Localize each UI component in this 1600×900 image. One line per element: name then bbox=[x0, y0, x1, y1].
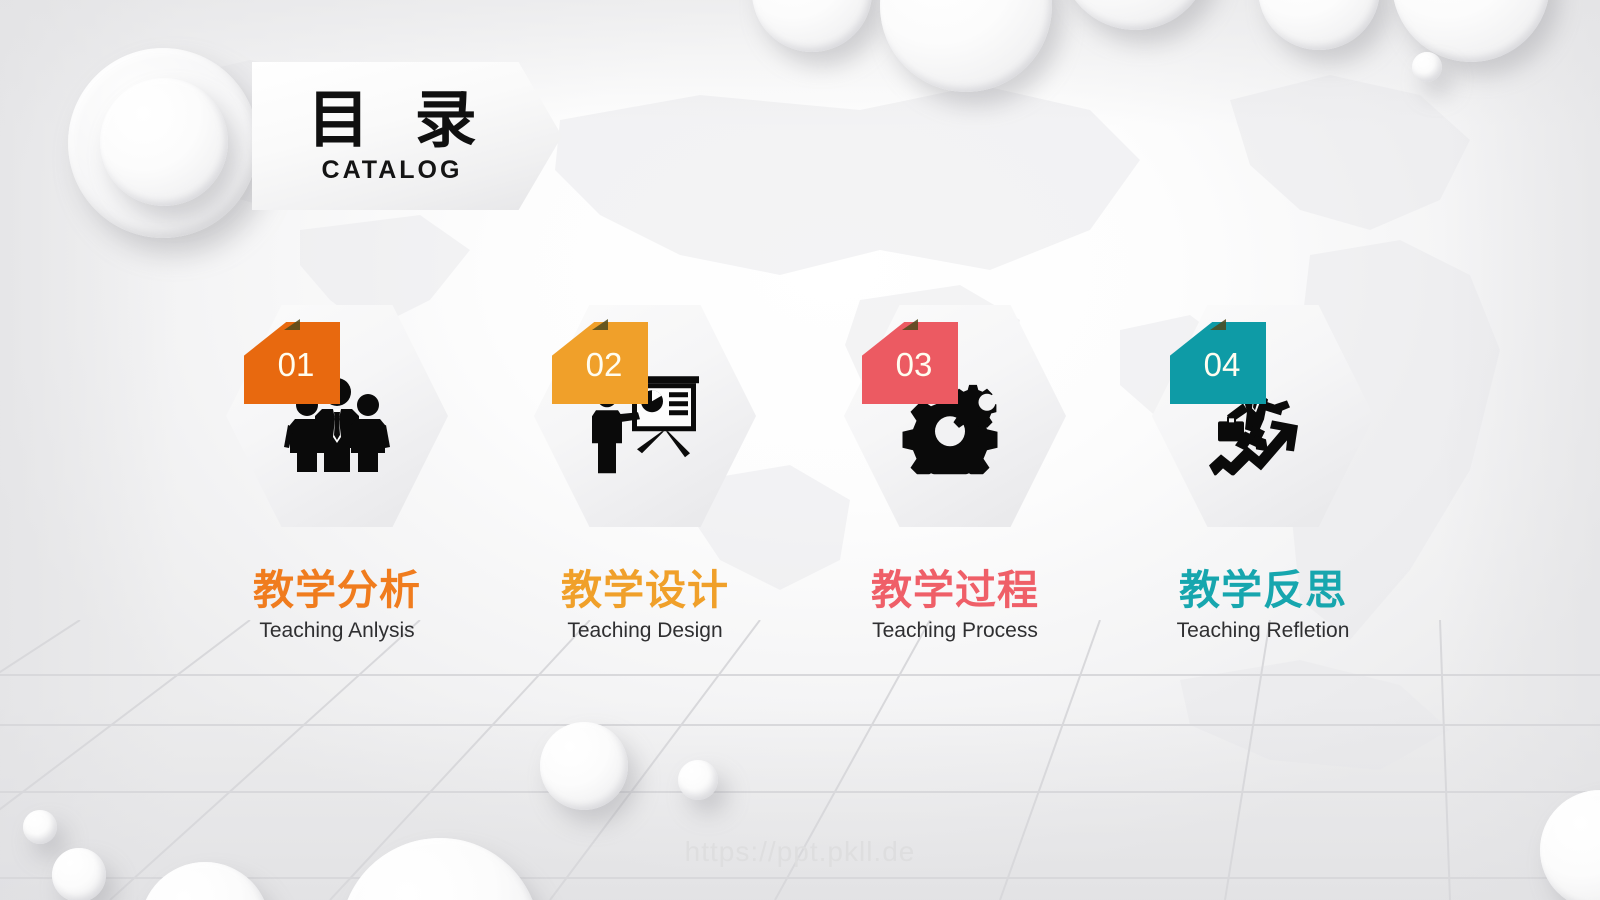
item-number-04: 04 bbox=[1204, 348, 1241, 381]
item-labels-01: 教学分析 Teaching Anlysis bbox=[222, 569, 452, 642]
item-title-cn-02: 教学设计 bbox=[530, 569, 760, 612]
catalog-item-02[interactable]: 02 教学设计 Teaching Design bbox=[530, 305, 760, 642]
item-title-cn-03: 教学过程 bbox=[840, 569, 1070, 612]
catalog-item-01[interactable]: 01 教学分析 Teaching Anlysis bbox=[222, 305, 452, 642]
item-number-ribbon-01: 01 bbox=[244, 322, 340, 404]
hexagon-03[interactable]: 03 bbox=[844, 305, 1066, 527]
catalog-slide: 目 录 CATALOG bbox=[0, 0, 1600, 900]
item-labels-02: 教学设计 Teaching Design bbox=[530, 569, 760, 642]
item-number-ribbon-04: 04 bbox=[1170, 322, 1266, 404]
item-number-02: 02 bbox=[586, 348, 623, 381]
item-title-en-02: Teaching Design bbox=[530, 619, 760, 642]
hexagon-02[interactable]: 02 bbox=[534, 305, 756, 527]
item-number-03: 03 bbox=[896, 348, 933, 381]
item-title-en-01: Teaching Anlysis bbox=[222, 619, 452, 642]
catalog-item-03[interactable]: 03 教学过程 Teaching Process bbox=[840, 305, 1070, 642]
item-title-cn-01: 教学分析 bbox=[222, 569, 452, 612]
item-title-en-03: Teaching Process bbox=[840, 619, 1070, 642]
catalog-item-04[interactable]: 04 教学反思 Teaching Refletion bbox=[1148, 305, 1378, 642]
catalog-items: 01 教学分析 Teaching Anlysis bbox=[0, 0, 1600, 900]
item-number-ribbon-03: 03 bbox=[862, 322, 958, 404]
item-labels-04: 教学反思 Teaching Refletion bbox=[1148, 569, 1378, 642]
hexagon-01[interactable]: 01 bbox=[226, 305, 448, 527]
site-watermark: https://ppt.pkll.de bbox=[0, 836, 1600, 868]
item-labels-03: 教学过程 Teaching Process bbox=[840, 569, 1070, 642]
item-number-ribbon-02: 02 bbox=[552, 322, 648, 404]
item-title-en-04: Teaching Refletion bbox=[1148, 619, 1378, 642]
item-title-cn-04: 教学反思 bbox=[1148, 569, 1378, 612]
item-number-01: 01 bbox=[278, 348, 315, 381]
hexagon-04[interactable]: 04 bbox=[1152, 305, 1374, 527]
